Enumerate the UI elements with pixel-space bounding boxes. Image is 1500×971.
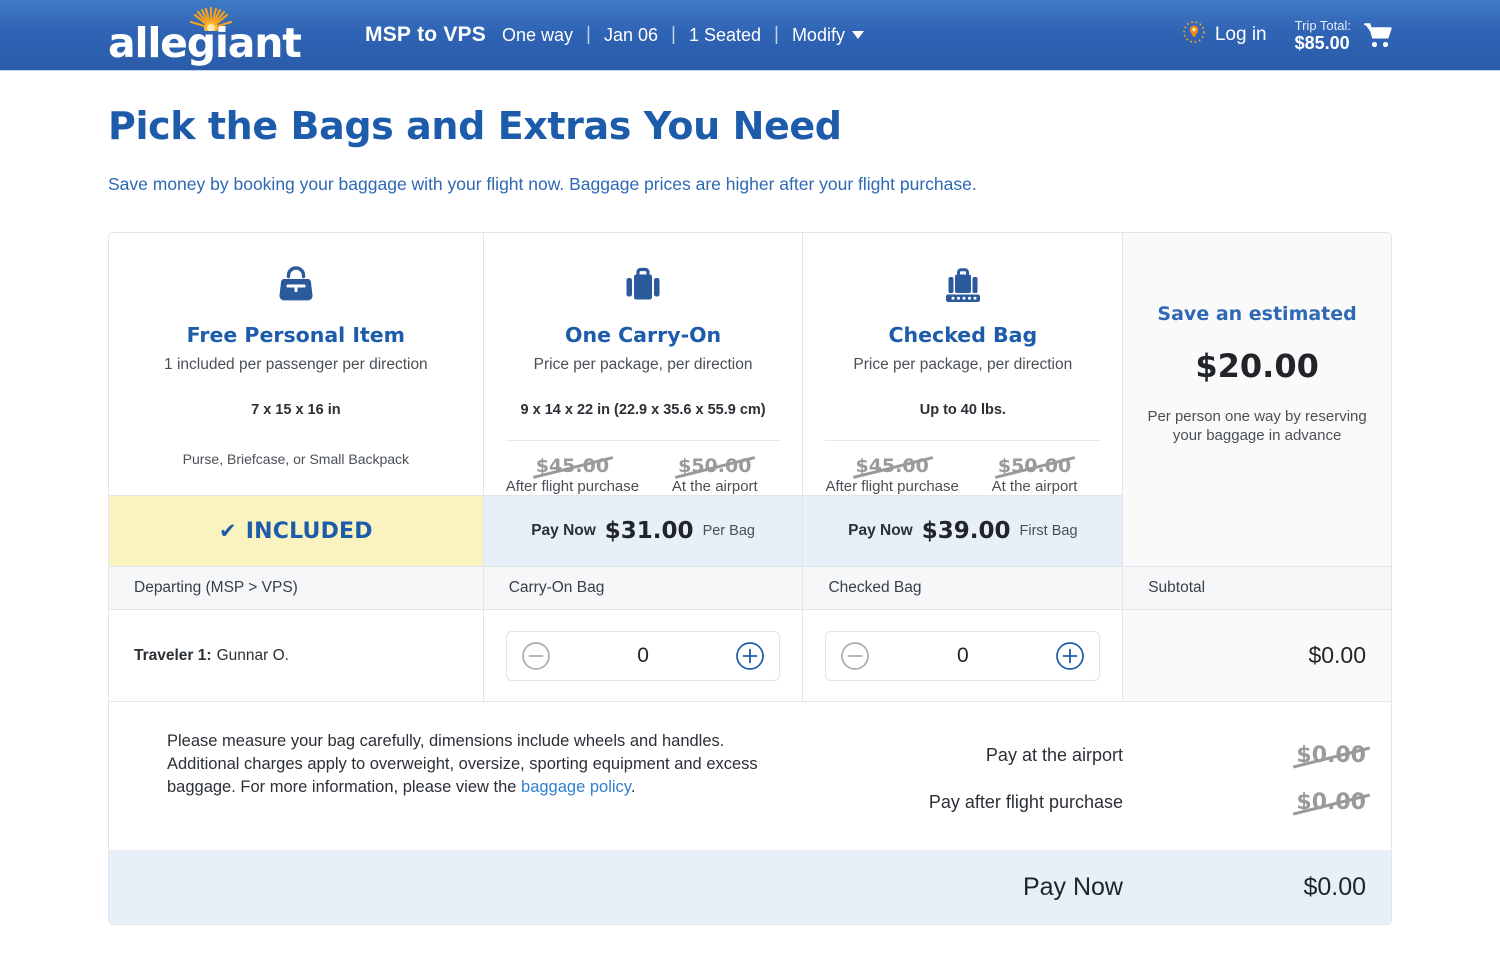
carry-on-increment-button[interactable] [735, 641, 765, 671]
column-header-departing: Departing (MSP > VPS) [109, 567, 484, 609]
cart-button[interactable]: Trip Total: $85.00 [1295, 18, 1392, 53]
trip-type: One way [502, 25, 573, 46]
checked-bag-count: 0 [957, 644, 969, 668]
option-description: Price per package, per direction [506, 355, 781, 374]
checked-bag-cell: 0 [803, 610, 1123, 701]
row-subtotal: $0.00 [1123, 610, 1391, 701]
trip-date: Jan 06 [604, 25, 658, 46]
carry-on-icon [506, 259, 781, 311]
total-line-after-purchase: Pay after flight purchase $0.00 [804, 779, 1391, 826]
allegiant-logo[interactable]: allegiant [108, 7, 278, 63]
baggage-table-header: Departing (MSP > VPS) Carry-On Bag Check… [109, 566, 1391, 610]
shopping-cart-icon[interactable] [1364, 22, 1392, 48]
carry-on-cell: 0 [484, 610, 804, 701]
price-amount: $45.00 [536, 455, 609, 477]
pay-now-amount: $31.00 [605, 518, 694, 544]
column-header-subtotal: Subtotal [1123, 567, 1391, 609]
option-note: Purse, Briefcase, or Small Backpack [131, 450, 461, 468]
route-destination: VPS [443, 23, 486, 47]
pay-now-label: Pay Now [531, 522, 596, 540]
price-label: At the airport [969, 478, 1100, 495]
column-header-checked: Checked Bag [803, 567, 1123, 609]
price-after-purchase: $45.00 After flight purchase [825, 455, 958, 495]
traveler-label: Traveler 1: [134, 647, 212, 665]
carry-on-stepper[interactable]: 0 [506, 631, 781, 681]
modify-button[interactable]: Modify [792, 25, 864, 46]
pay-now-amount: $39.00 [922, 518, 1011, 544]
account-pin-icon [1182, 20, 1206, 50]
price-at-airport: $50.00 At the airport [649, 455, 780, 495]
sunburst-icon [190, 5, 232, 31]
baggage-note: Please measure your bag carefully, dimen… [109, 702, 804, 850]
pay-now-label: Pay Now [848, 522, 913, 540]
option-dimensions: 9 x 14 x 22 in (22.9 x 35.6 x 55.9 cm) [506, 402, 781, 418]
price-comparison: $45.00 After flight purchase $50.00 At t… [506, 440, 781, 495]
site-header: allegiant [0, 0, 1500, 71]
option-description: Price per package, per direction [825, 355, 1100, 374]
note-text-end: . [631, 778, 636, 796]
option-card-carry-on: One Carry-On Price per package, per dire… [484, 233, 804, 566]
pay-now-strip: Pay Now $39.00 First Bag [803, 495, 1122, 566]
total-line-airport: Pay at the airport $0.00 [804, 732, 1391, 779]
traveler-name: Gunnar O. [217, 647, 289, 665]
baggage-panel: Free Personal Item 1 included per passen… [108, 232, 1392, 925]
included-label: INCLUDED [246, 519, 373, 544]
price-amount: $50.00 [998, 455, 1071, 477]
price-after-purchase: $45.00 After flight purchase [506, 455, 639, 495]
page-title: Pick the Bags and Extras You Need [108, 104, 1392, 148]
route-to-word: to [417, 23, 437, 47]
purse-icon [131, 259, 461, 311]
chevron-down-icon [852, 31, 864, 39]
price-amount: $45.00 [855, 455, 928, 477]
option-description: 1 included per passenger per direction [131, 355, 461, 374]
trip-total-label: Trip Total: [1295, 18, 1351, 34]
price-label: After flight purchase [506, 478, 639, 495]
page-subtitle: Save money by booking your baggage with … [108, 174, 1392, 195]
option-title: Free Personal Item [131, 323, 461, 347]
savings-note: Per person one way by reserving your bag… [1147, 407, 1367, 445]
header-right: Log in Trip Total: $85.00 [1182, 18, 1392, 53]
check-icon: ✔ [219, 521, 237, 542]
totals-block: Pay at the airport $0.00 Pay after fligh… [804, 702, 1391, 850]
checked-bag-icon [825, 259, 1100, 311]
grand-total-row: Pay Now $0.00 [109, 851, 1391, 924]
pay-now-unit: First Bag [1020, 523, 1078, 539]
total-value: $0.00 [1296, 790, 1366, 815]
option-dimensions: Up to 40 lbs. [825, 402, 1100, 418]
option-dimensions: 7 x 15 x 16 in [131, 402, 461, 418]
login-button[interactable]: Log in [1182, 20, 1267, 50]
pay-now-unit: Per Bag [703, 523, 755, 539]
total-value: $0.00 [1296, 743, 1366, 768]
note-text: Please measure your bag carefully, dimen… [167, 732, 758, 796]
option-card-personal-item: Free Personal Item 1 included per passen… [109, 233, 484, 566]
price-at-airport: $50.00 At the airport [969, 455, 1100, 495]
option-card-checked-bag: Checked Bag Price per package, per direc… [803, 233, 1123, 566]
carry-on-decrement-button[interactable] [521, 641, 551, 671]
grand-total-value: $0.00 [1123, 873, 1391, 902]
price-comparison: $45.00 After flight purchase $50.00 At t… [825, 440, 1100, 495]
price-label: At the airport [649, 478, 780, 495]
included-strip: ✔ INCLUDED [109, 495, 483, 566]
option-title: Checked Bag [825, 323, 1100, 347]
page-body: Pick the Bags and Extras You Need Save m… [0, 104, 1500, 925]
separator: | [671, 24, 676, 46]
savings-title: Save an estimated [1147, 303, 1367, 325]
trip-total-amount: $85.00 [1295, 34, 1351, 53]
seat-count: 1 Seated [689, 25, 761, 46]
option-title: One Carry-On [506, 323, 781, 347]
savings-card: Save an estimated $20.00 Per person one … [1123, 233, 1391, 566]
trip-summary: MSP to VPS One way | Jan 06 | 1 Seated |… [365, 23, 864, 47]
traveler-cell: Traveler 1: Gunnar O. [109, 610, 484, 701]
total-label: Pay after flight purchase [929, 792, 1123, 813]
baggage-policy-link[interactable]: baggage policy [521, 778, 631, 796]
modify-label: Modify [792, 25, 845, 46]
column-header-carry-on: Carry-On Bag [484, 567, 804, 609]
grand-total-label: Pay Now [1023, 873, 1123, 902]
note-and-totals-row: Please measure your bag carefully, dimen… [109, 702, 1391, 851]
carry-on-count: 0 [637, 644, 649, 668]
route-origin: MSP [365, 23, 411, 47]
checked-bag-decrement-button[interactable] [840, 641, 870, 671]
table-row: Traveler 1: Gunnar O. 0 [109, 610, 1391, 702]
separator: | [774, 24, 779, 46]
price-label: After flight purchase [825, 478, 958, 495]
checked-bag-stepper[interactable]: 0 [825, 631, 1100, 681]
savings-amount: $20.00 [1147, 347, 1367, 385]
baggage-option-row: Free Personal Item 1 included per passen… [109, 233, 1391, 566]
total-label: Pay at the airport [986, 745, 1123, 766]
price-amount: $50.00 [678, 455, 751, 477]
separator: | [586, 24, 591, 46]
login-label: Log in [1215, 24, 1267, 46]
pay-now-strip: Pay Now $31.00 Per Bag [484, 495, 803, 566]
checked-bag-increment-button[interactable] [1055, 641, 1085, 671]
